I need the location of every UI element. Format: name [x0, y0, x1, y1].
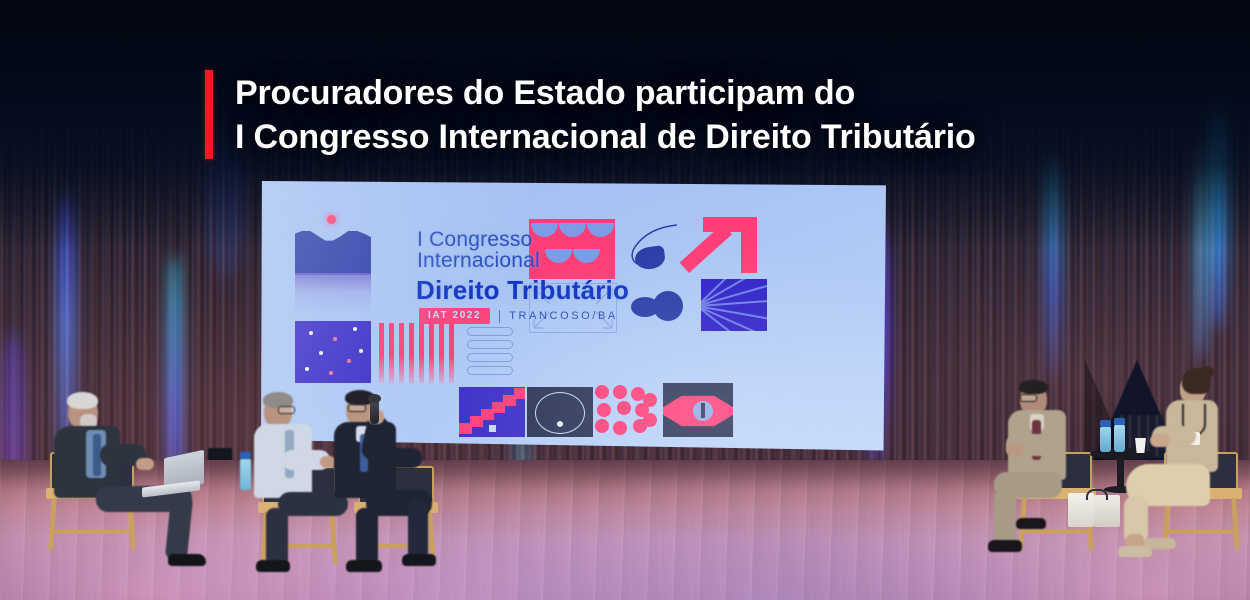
water-bottle	[1100, 426, 1111, 452]
slide-meta-row: IAT 2022 TRANCOSO/BA	[419, 308, 618, 324]
chair-leg-right	[1231, 498, 1240, 550]
page-title: Procuradores do Estado participam do I C…	[235, 70, 976, 159]
eyeglasses	[348, 404, 366, 412]
leaf-and-line-graphic	[609, 223, 679, 275]
meta-divider	[499, 310, 500, 323]
hair-bun	[1200, 366, 1214, 378]
shoe	[168, 554, 206, 566]
radial-rays-graphic	[701, 279, 767, 331]
laptop-keyboard	[142, 480, 200, 497]
circle-outline-icon	[535, 392, 585, 434]
barcode-fade-overlay	[379, 323, 457, 383]
second-shoe	[1016, 518, 1046, 529]
arrow-block-graphic	[683, 217, 757, 279]
bottle-cap	[1100, 420, 1111, 427]
eyeglasses	[1020, 394, 1037, 402]
chair-rung	[1164, 530, 1238, 534]
tote-bag-handle	[1086, 489, 1108, 500]
hair	[1019, 380, 1048, 394]
eye-pupil-icon	[701, 403, 705, 418]
lower-leg	[356, 508, 378, 566]
headline-line-2: I Congresso Internacional de Direito Tri…	[235, 116, 976, 160]
eye-block-graphic	[663, 383, 733, 437]
lower-leg	[266, 508, 288, 566]
chair-leg-left	[48, 498, 57, 550]
pink-dot-graphic	[327, 215, 336, 224]
tote-bags	[1068, 487, 1126, 529]
panelist-woman-beige	[1124, 368, 1250, 578]
pink-block-arcs-graphic	[529, 219, 615, 279]
peanut-shape-graphic	[631, 291, 693, 321]
headline-line-1: Procuradores do Estado participam do	[235, 72, 976, 116]
headline-block: Procuradores do Estado participam do I C…	[205, 70, 976, 159]
slide-title-line2: Internacional	[417, 250, 540, 271]
chair-rung	[50, 530, 134, 534]
hand	[1006, 444, 1023, 456]
second-shoe	[402, 554, 436, 566]
slide-location: TRANCOSO/BA	[509, 310, 618, 322]
eyeglasses	[278, 406, 295, 414]
slide-title-line1: I Congresso	[417, 229, 540, 250]
laptop	[142, 454, 206, 498]
chair-rung	[1020, 530, 1092, 534]
arch-gradient-graphic	[295, 273, 371, 315]
circle-block-graphic	[527, 387, 593, 437]
arm-lower	[374, 448, 422, 468]
slide-edition-badge: IAT 2022	[419, 308, 490, 324]
shoe	[346, 560, 382, 572]
water-bottle	[240, 458, 251, 490]
dot-grid-graphic	[595, 385, 659, 437]
red-accent-bar	[205, 70, 213, 159]
slide-content: I Congresso Internacional Direito Tribut…	[283, 211, 862, 404]
bottle-cap	[240, 452, 251, 459]
table-stem	[1117, 456, 1124, 490]
hair	[67, 392, 98, 409]
speaker-microphone	[330, 392, 480, 587]
news-banner-image: I Congresso Internacional Direito Tribut…	[0, 0, 1250, 600]
panelist-left-laptop	[40, 390, 240, 585]
microphone-head	[368, 394, 381, 403]
shoe	[988, 540, 1022, 552]
rounded-pill-stack-graphic	[467, 327, 511, 373]
hands	[1150, 434, 1170, 447]
second-sandal	[1144, 538, 1176, 549]
arch-shape-graphic	[295, 231, 371, 275]
confetti-block-graphic	[295, 321, 371, 383]
circle-dot-icon	[557, 421, 563, 427]
second-leg	[408, 500, 428, 562]
shoe	[256, 560, 290, 572]
slide-title: I Congresso Internacional	[417, 229, 540, 272]
arrow-right-bar	[741, 217, 757, 273]
slide-subtitle: Direito Tributário	[416, 275, 629, 306]
